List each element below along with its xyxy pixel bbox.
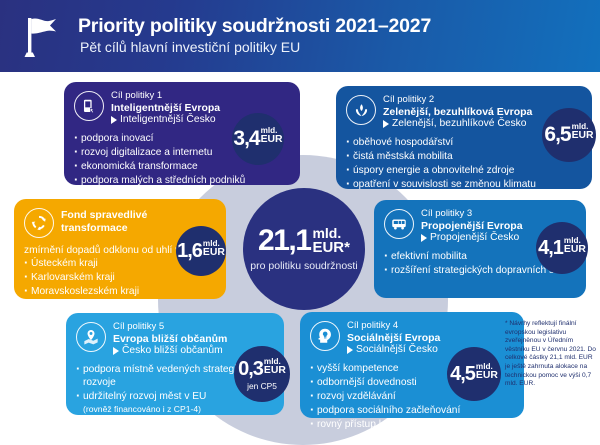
map-pin-icon — [76, 322, 106, 352]
card-eyebrow: Cíl politiky 2 — [383, 94, 532, 106]
amount-value: 6,5 — [544, 123, 570, 147]
amount-unit-2: EUR — [203, 248, 225, 259]
card-title-line-1: Fond spravedlivé — [61, 209, 147, 222]
amount-unit-2: EUR — [264, 366, 286, 377]
card-subtitle: Zelenější, bezuhlíkové Česko — [392, 118, 527, 131]
list-item: úspory energie a obnovitelné zdroje — [346, 164, 582, 177]
flag-icon — [0, 10, 78, 62]
amount-value: 4,5 — [450, 363, 475, 386]
amount-unit-2: EUR — [572, 131, 594, 142]
bus-icon — [384, 209, 414, 239]
card-title: Sociálnější Evropa — [347, 332, 440, 345]
card-eyebrow: Cíl politiky 1 — [111, 90, 220, 102]
amount-unit-2: EUR — [476, 371, 498, 382]
page-subtitle: Pět cílů hlavní investiční politiky EU — [78, 38, 431, 57]
triangle-icon — [113, 347, 119, 355]
plant-in-hands-icon — [346, 95, 376, 125]
list-item: Karlovarském kraji — [24, 271, 216, 284]
amount-value: 3,4 — [233, 127, 259, 151]
amount-bubble-1: 3,4 mld. EUR — [232, 113, 284, 165]
card-subtitle-row: Propojenější Česko — [421, 232, 523, 245]
page-header: Priority politiky soudržnosti 2021–2027 … — [0, 0, 600, 72]
page-title: Priority politiky soudržnosti 2021–2027 — [78, 14, 431, 38]
list-item: podpora sociálního začleňování — [310, 404, 514, 417]
card-subtitle-row: Česko bližší občanům — [113, 345, 227, 358]
total-unit-2: EUR* — [312, 240, 350, 256]
total-amount-value: 21,1 — [258, 226, 310, 256]
card-title-line-2: transformace — [61, 222, 147, 235]
card-title: Evropa bližší občanům — [113, 333, 227, 346]
list-item: opatření v souvislosti se změnou klimatu — [346, 178, 582, 191]
card-title: Zelenější, bezuhlíková Evropa — [383, 106, 532, 119]
card-eyebrow: Cíl politiky 5 — [113, 321, 227, 333]
amount-bubble-3: 4,1 mld. EUR — [536, 222, 588, 274]
card-subtitle-row: Zelenější, bezuhlíkové Česko — [383, 118, 532, 131]
card-subtitle: Česko bližší občanům — [122, 345, 223, 358]
amount-bubble-4: 4,5 mld. EUR — [447, 347, 501, 401]
card-title: Inteligentnější Evropa — [111, 102, 220, 115]
total-unit-1: mld. — [312, 226, 350, 240]
amount-value: 4,1 — [538, 237, 563, 260]
card-subtitle: Propojenější Česko — [430, 232, 519, 245]
triangle-icon — [383, 120, 389, 128]
recycle-icon — [24, 208, 54, 238]
card-note: (rovněž financováno i z CP1-4) — [76, 404, 274, 415]
amount-bubble-2: 6,5 mld. EUR — [542, 108, 596, 162]
card-subtitle-row: Sociálnější Česko — [347, 344, 440, 357]
total-amount-bubble: 21,1 mld. EUR* pro politiku soudržnosti — [243, 188, 365, 310]
smartphone-icon — [74, 91, 104, 121]
triangle-icon — [111, 116, 117, 124]
head-lightbulb-icon — [310, 321, 340, 351]
amount-unit-2: EUR — [564, 245, 586, 256]
card-subtitle-row: Inteligentnější Česko — [111, 114, 220, 127]
amount-value: 0,3 — [238, 358, 263, 381]
amount-bubble-jtf: 1,6 mld. EUR — [176, 226, 226, 276]
list-item: čistá městská mobilita — [346, 150, 582, 163]
list-item: rovný přístup ke zdravotní péči — [310, 418, 514, 431]
card-eyebrow: Cíl politiky 3 — [421, 208, 523, 220]
footnote-text: * Návrhy reflektují finální evropskou le… — [505, 320, 597, 389]
card-subtitle: Sociálnější Česko — [356, 344, 438, 357]
card-eyebrow: Cíl politiky 4 — [347, 320, 440, 332]
triangle-icon — [347, 346, 353, 354]
card-subtitle: Inteligentnější Česko — [120, 114, 216, 127]
card-title: Propojenější Evropa — [421, 220, 523, 233]
triangle-icon — [421, 234, 427, 242]
list-item: podpora malých a středních podniků — [74, 174, 290, 187]
total-caption: pro politiku soudržnosti — [250, 260, 357, 273]
list-item: Moravskoslezském kraji — [24, 285, 216, 298]
amount-value: 1,6 — [177, 240, 202, 263]
amount-unit-2: EUR — [261, 135, 283, 146]
amount-bubble-5: 0,3 mld. EUR jen CP5 — [234, 346, 290, 402]
amount-sub-label: jen CP5 — [247, 381, 277, 391]
